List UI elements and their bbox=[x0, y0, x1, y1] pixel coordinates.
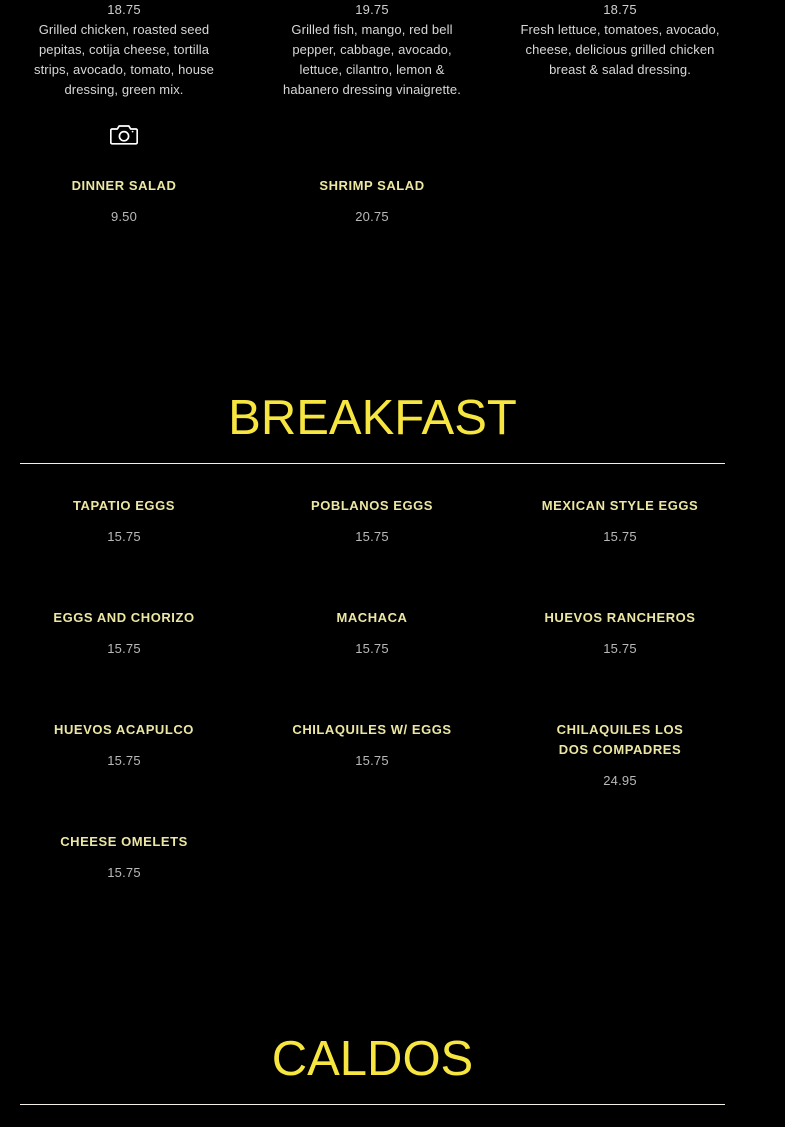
menu-item-chilaquiles-los-dos-compadres[interactable]: CHILAQUILES LOS DOS COMPADRES 24.95 bbox=[496, 720, 744, 790]
menu-item-price: 15.75 bbox=[506, 640, 734, 658]
photo-placeholder-1[interactable] bbox=[6, 112, 242, 156]
salads-section: 18.75 Grilled chicken, roasted seed pepi… bbox=[0, 0, 745, 156]
menu-item-name: DINNER SALAD bbox=[10, 176, 238, 196]
salad-column-3: 18.75 Fresh lettuce, tomatoes, avocado, … bbox=[496, 0, 744, 156]
menu-item-cheese-omelets[interactable]: CHEESE OMELETS 15.75 bbox=[0, 832, 248, 882]
page-title: CALDOS bbox=[0, 1031, 745, 1087]
salad-description-row: 18.75 Grilled chicken, roasted seed pepi… bbox=[0, 0, 745, 156]
menu-item-empty bbox=[496, 176, 744, 226]
menu-item-name: HUEVOS ACAPULCO bbox=[10, 720, 238, 740]
divider bbox=[20, 463, 725, 464]
menu-item-price: 15.75 bbox=[506, 528, 734, 546]
menu-item-name: HUEVOS RANCHEROS bbox=[506, 608, 734, 628]
salad-column-1: 18.75 Grilled chicken, roasted seed pepi… bbox=[0, 0, 248, 156]
page-title: BREAKFAST bbox=[0, 390, 745, 446]
menu-item-empty bbox=[248, 832, 496, 882]
menu-item-poblanos-eggs[interactable]: POBLANOS EGGS 15.75 bbox=[248, 496, 496, 546]
breakfast-section-header: BREAKFAST bbox=[0, 390, 745, 464]
menu-item-eggs-and-chorizo[interactable]: EGGS AND CHORIZO 15.75 bbox=[0, 608, 248, 658]
salad-price-2: 19.75 bbox=[254, 0, 490, 20]
menu-item-name: MEXICAN STYLE EGGS bbox=[506, 496, 734, 516]
menu-item-name: CHILAQUILES LOS DOS COMPADRES bbox=[544, 720, 696, 760]
menu-item-price: 15.75 bbox=[10, 640, 238, 658]
menu-item-price: 15.75 bbox=[10, 528, 238, 546]
breakfast-items-grid: TAPATIO EGGS 15.75 POBLANOS EGGS 15.75 M… bbox=[0, 496, 745, 882]
menu-item-name: EGGS AND CHORIZO bbox=[10, 608, 238, 628]
menu-item-shrimp-salad[interactable]: SHRIMP SALAD 20.75 bbox=[248, 176, 496, 226]
menu-item-huevos-acapulco[interactable]: HUEVOS ACAPULCO 15.75 bbox=[0, 720, 248, 790]
menu-item-price: 15.75 bbox=[258, 752, 486, 770]
menu-item-price: 15.75 bbox=[258, 640, 486, 658]
menu-item-name: CHILAQUILES W/ EGGS bbox=[258, 720, 486, 740]
menu-item-name: CHEESE OMELETS bbox=[10, 832, 238, 852]
menu-item-price: 15.75 bbox=[10, 864, 238, 882]
camera-icon[interactable] bbox=[110, 122, 138, 146]
menu-item-price: 20.75 bbox=[258, 208, 486, 226]
salad-description-2: Grilled fish, mango, red bell pepper, ca… bbox=[254, 20, 490, 100]
menu-item-price: 15.75 bbox=[258, 528, 486, 546]
menu-item-machaca[interactable]: MACHACA 15.75 bbox=[248, 608, 496, 658]
salad-items-row: DINNER SALAD 9.50 SHRIMP SALAD 20.75 bbox=[0, 176, 745, 226]
menu-item-price: 15.75 bbox=[10, 752, 238, 770]
table-row: TAPATIO EGGS 15.75 POBLANOS EGGS 15.75 M… bbox=[0, 496, 745, 546]
divider bbox=[20, 1104, 725, 1105]
caldos-section-header: CALDOS bbox=[0, 1031, 745, 1105]
menu-item-dinner-salad[interactable]: DINNER SALAD 9.50 bbox=[0, 176, 248, 226]
salad-column-2: 19.75 Grilled fish, mango, red bell pepp… bbox=[248, 0, 496, 156]
salad-description-1: Grilled chicken, roasted seed pepitas, c… bbox=[6, 20, 242, 100]
menu-item-empty bbox=[496, 832, 744, 882]
table-row: CHEESE OMELETS 15.75 bbox=[0, 832, 745, 882]
menu-item-name: MACHACA bbox=[258, 608, 486, 628]
table-row: HUEVOS ACAPULCO 15.75 CHILAQUILES W/ EGG… bbox=[0, 720, 745, 790]
menu-item-huevos-rancheros[interactable]: HUEVOS RANCHEROS 15.75 bbox=[496, 608, 744, 658]
table-row: DINNER SALAD 9.50 SHRIMP SALAD 20.75 bbox=[0, 176, 745, 226]
menu-item-name: TAPATIO EGGS bbox=[10, 496, 238, 516]
menu-item-price: 9.50 bbox=[10, 208, 238, 226]
salad-description-3: Fresh lettuce, tomatoes, avocado, cheese… bbox=[502, 20, 738, 80]
menu-item-mexican-style-eggs[interactable]: MEXICAN STYLE EGGS 15.75 bbox=[496, 496, 744, 546]
menu-item-name: POBLANOS EGGS bbox=[258, 496, 486, 516]
salad-price-3: 18.75 bbox=[502, 0, 738, 20]
menu-page: 18.75 Grilled chicken, roasted seed pepi… bbox=[0, 0, 785, 1127]
menu-item-price: 24.95 bbox=[544, 772, 696, 790]
salad-price-1: 18.75 bbox=[6, 0, 242, 20]
table-row: EGGS AND CHORIZO 15.75 MACHACA 15.75 HUE… bbox=[0, 608, 745, 658]
menu-item-name: SHRIMP SALAD bbox=[258, 176, 486, 196]
menu-item-tapatio-eggs[interactable]: TAPATIO EGGS 15.75 bbox=[0, 496, 248, 546]
menu-item-chilaquiles-w-eggs[interactable]: CHILAQUILES W/ EGGS 15.75 bbox=[248, 720, 496, 790]
